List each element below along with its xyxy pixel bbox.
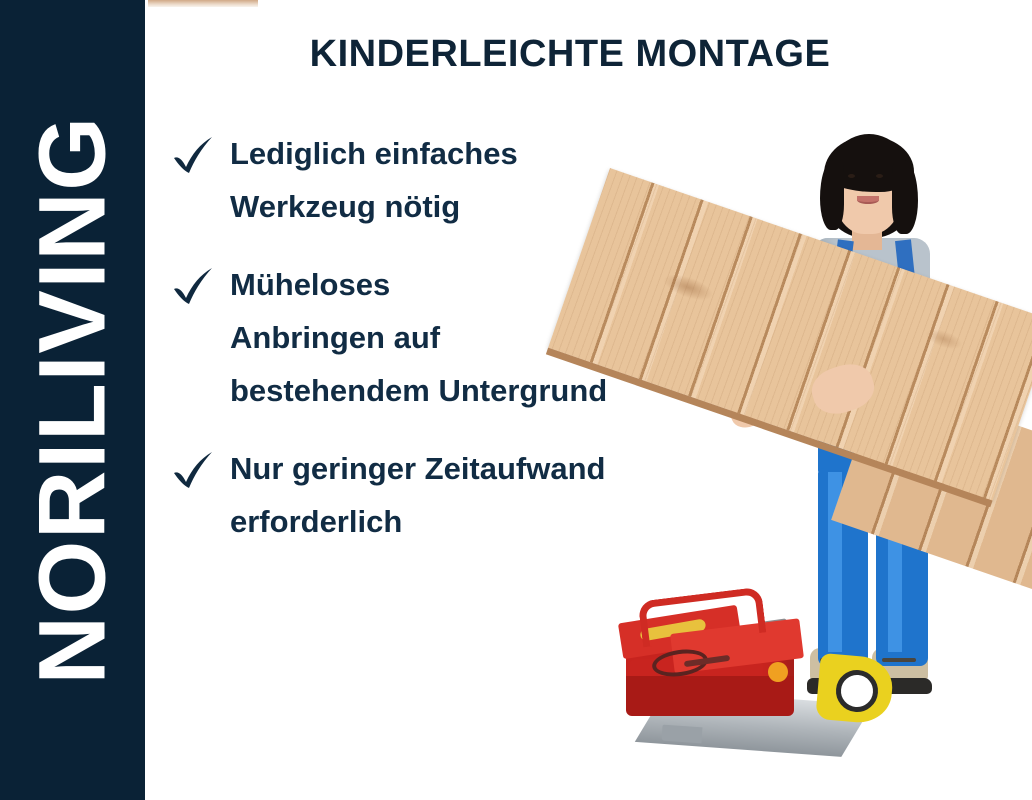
- page-title: KINDERLEICHTE MONTAGE: [160, 33, 980, 76]
- checkmark-icon: [170, 132, 216, 178]
- eye-left: [848, 174, 855, 178]
- plank-edge: [546, 348, 993, 508]
- toolbox-latch: [768, 662, 788, 682]
- toolbox: [610, 580, 840, 740]
- wood-grain: [548, 168, 1032, 501]
- top-wood-sliver: [148, 0, 258, 7]
- brand-name: NORILIVING: [25, 115, 120, 684]
- product-photo: [580, 120, 1032, 800]
- eye-right: [876, 174, 883, 178]
- checkmark-icon: [170, 447, 216, 493]
- hair-side-right: [892, 160, 918, 234]
- promo-poster: NORILIVING KINDERLEICHTE MONTAGE Ledigli…: [0, 0, 1032, 800]
- mouth: [857, 196, 879, 204]
- toolbox-front: [626, 676, 794, 716]
- list-item-label: Lediglich einfaches Werkzeug nötig: [230, 128, 518, 233]
- brand-sidebar: NORILIVING: [0, 0, 145, 800]
- hair-side-left: [820, 160, 844, 230]
- wood-plank-panel: [548, 168, 1032, 501]
- list-item-label: Nur geringer Zeitaufwand erforderlich: [230, 443, 605, 548]
- checkmark-icon: [170, 263, 216, 309]
